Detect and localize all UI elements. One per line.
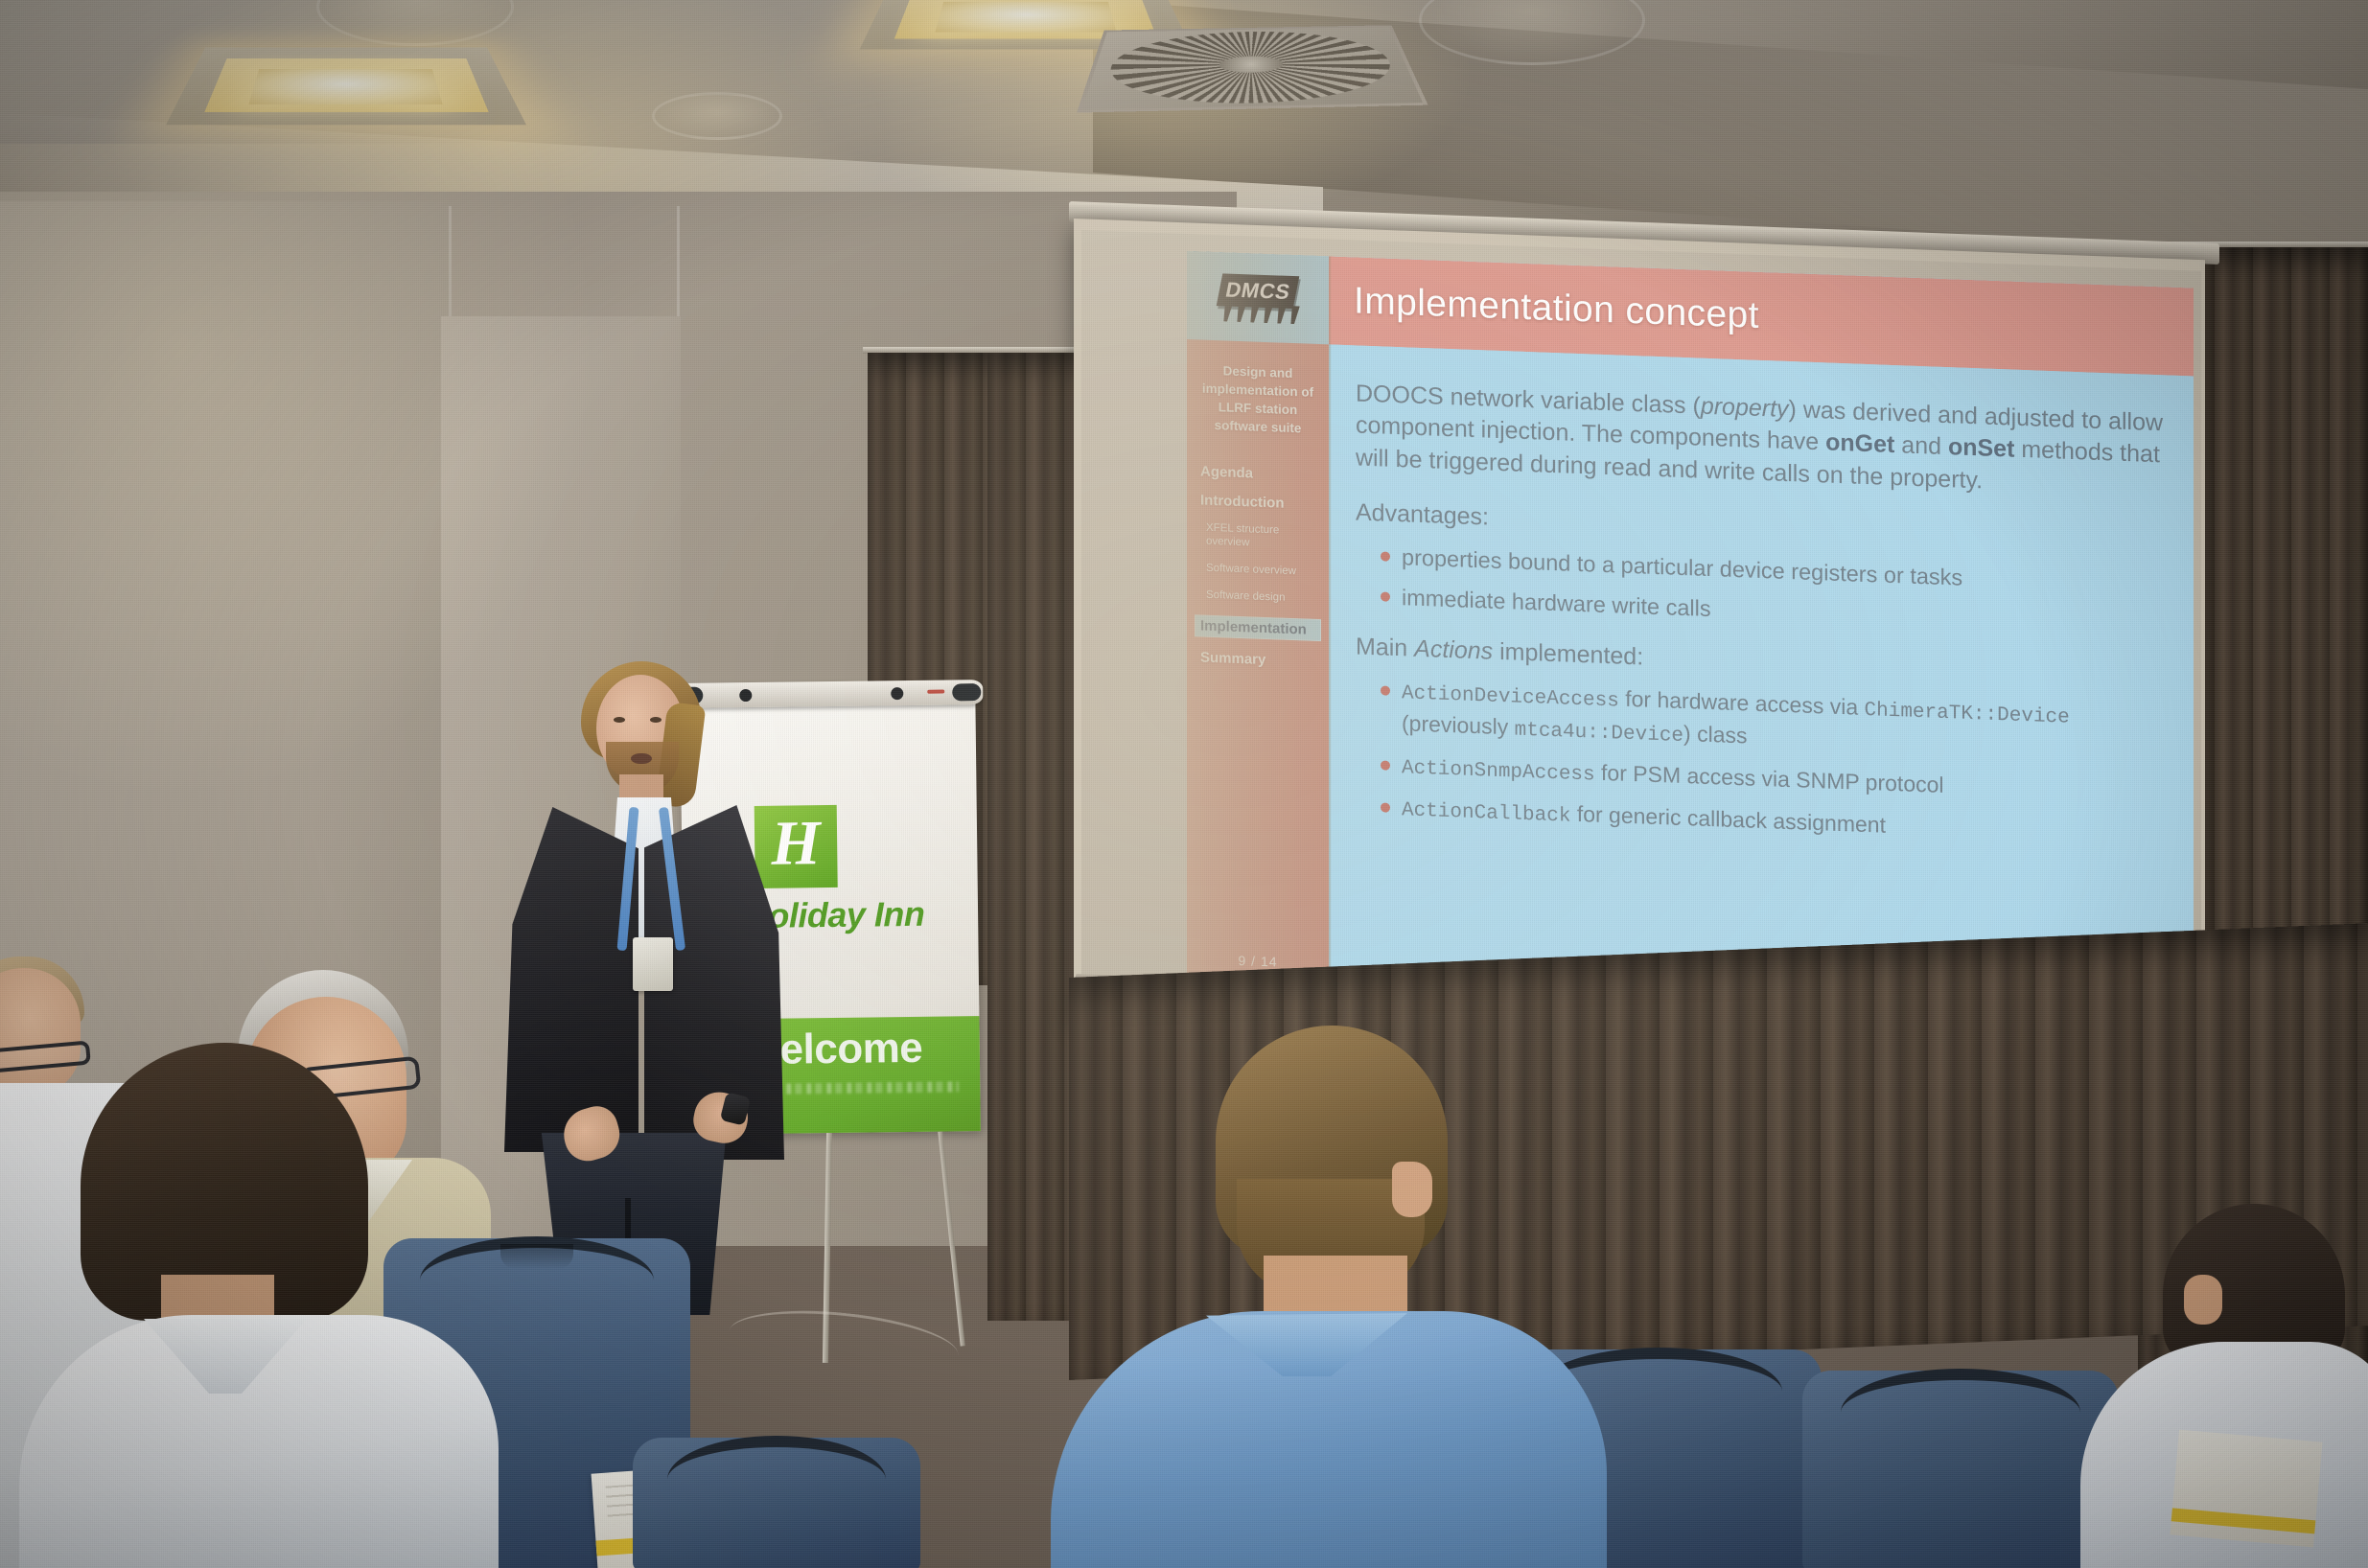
slide-nav-item-software-overview: Software overview [1206, 562, 1321, 580]
presenter-mouth [631, 753, 652, 764]
presenter-eye [650, 717, 662, 723]
audience-ear [1392, 1162, 1432, 1217]
presenter-eye [614, 717, 625, 723]
slide-nav-item-summary: Summary [1200, 649, 1321, 670]
chair-handle [1841, 1369, 2081, 1413]
slide-deck-title: Design and implementation of LLRF statio… [1187, 339, 1329, 439]
presenter-badge [633, 937, 673, 991]
slide-paragraph: DOOCS network variable class (property) … [1356, 378, 2165, 503]
ceiling-light-left [188, 10, 504, 153]
actions-list: ActionDeviceAccess for hardware access v… [1356, 674, 2165, 853]
slide-nav-item-implementation: Implementation [1195, 614, 1321, 641]
slide-nav-item-xfel-structure-overview: XFEL structure overview [1206, 520, 1321, 553]
dmcs-logo-text: DMCS [1223, 278, 1292, 305]
dmcs-chip-logo-icon: DMCS [1214, 271, 1302, 324]
slide-nav-item-software-design: Software design [1206, 588, 1321, 607]
slide-nav-item-agenda: Agenda [1200, 463, 1321, 484]
booklet [2170, 1430, 2322, 1548]
conference-photo-scene: DMCS Implementation concept Design and i… [0, 0, 2368, 1568]
slide-nav-item-introduction: Introduction [1200, 492, 1321, 513]
presenter [479, 661, 796, 1313]
advantages-list: properties bound to a particular device … [1356, 540, 2165, 641]
air-diffuser-vent-icon [1077, 25, 1428, 112]
slide-body: DOOCS network variable class (property) … [1329, 344, 2194, 1016]
slide-sidebar: Design and implementation of LLRF statio… [1187, 339, 1329, 984]
slide-title: Implementation concept [1329, 279, 1759, 336]
chair-notch [500, 1244, 574, 1269]
floor-cable [726, 1302, 961, 1386]
slide-logo-panel: DMCS [1187, 251, 1329, 344]
audience-ear [2184, 1275, 2222, 1325]
recessed-downlight-icon [652, 92, 782, 140]
chair [1802, 1371, 2119, 1568]
slide-sidebar-nav: AgendaIntroductionXFEL structure overvie… [1187, 463, 1329, 670]
presenter-jacket-left [504, 807, 638, 1152]
chair [633, 1438, 920, 1568]
projected-slide: DMCS Implementation concept Design and i… [1187, 251, 2194, 1017]
chair-handle [667, 1436, 886, 1480]
